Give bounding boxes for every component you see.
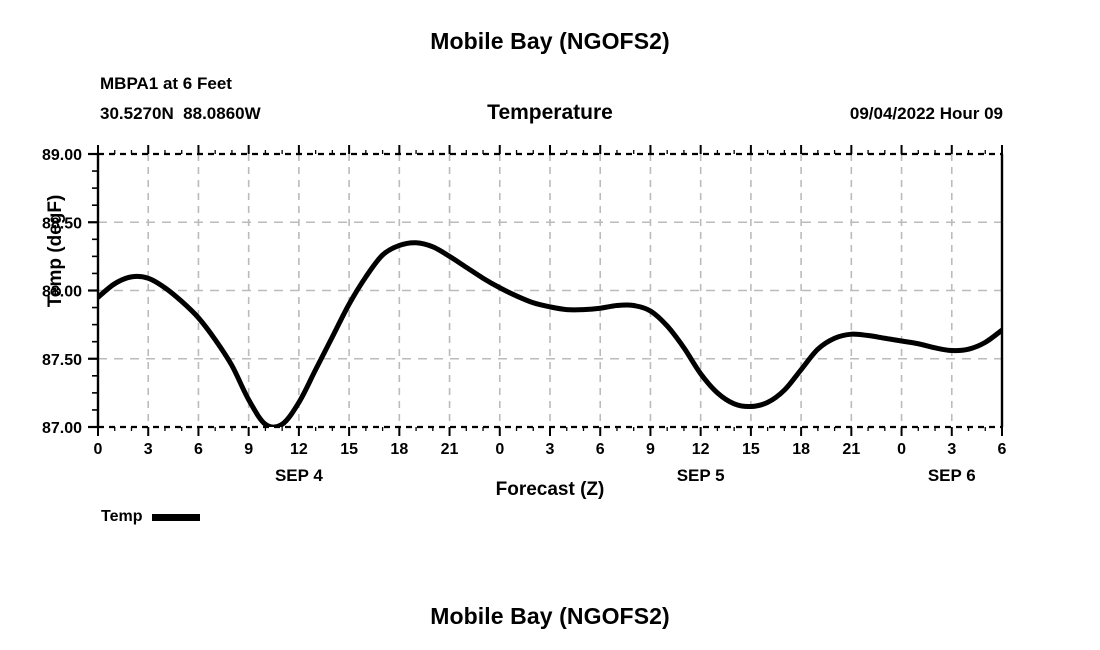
- x-axis-title: Forecast (Z): [0, 479, 1100, 501]
- svg-text:15: 15: [742, 441, 760, 458]
- grid-lines: [98, 154, 1002, 427]
- tick-labels: 03691215182103691215182103687.0087.5088.…: [42, 147, 1007, 458]
- svg-text:0: 0: [897, 441, 906, 458]
- svg-text:6: 6: [194, 441, 203, 458]
- svg-text:6: 6: [998, 441, 1007, 458]
- svg-text:18: 18: [792, 441, 810, 458]
- svg-text:15: 15: [340, 441, 358, 458]
- legend: Temp: [101, 508, 200, 526]
- legend-label-temp: Temp: [101, 508, 142, 526]
- svg-text:9: 9: [646, 441, 655, 458]
- data-series: [98, 243, 1002, 427]
- page-title-bottom: Mobile Bay (NGOFS2): [0, 603, 1100, 630]
- svg-text:3: 3: [947, 441, 956, 458]
- chart-svg: 03691215182103691215182103687.0087.5088.…: [0, 0, 1100, 650]
- svg-text:3: 3: [546, 441, 555, 458]
- svg-text:21: 21: [842, 441, 860, 458]
- y-axis-title: Temp (degF): [45, 151, 67, 351]
- axis-ticks: [88, 145, 1002, 436]
- svg-text:3: 3: [144, 441, 153, 458]
- svg-text:87.50: 87.50: [42, 352, 82, 369]
- svg-text:9: 9: [244, 441, 253, 458]
- svg-text:0: 0: [495, 441, 504, 458]
- legend-swatch-temp: [152, 514, 200, 521]
- svg-text:18: 18: [390, 441, 408, 458]
- svg-text:12: 12: [290, 441, 308, 458]
- svg-text:87.00: 87.00: [42, 420, 82, 437]
- svg-text:6: 6: [596, 441, 605, 458]
- svg-text:0: 0: [94, 441, 103, 458]
- plot-area: 03691215182103691215182103687.0087.5088.…: [0, 0, 1100, 650]
- svg-text:12: 12: [692, 441, 710, 458]
- svg-text:21: 21: [441, 441, 459, 458]
- chart-page: Mobile Bay (NGOFS2) MBPA1 at 6 Feet 30.5…: [0, 0, 1100, 650]
